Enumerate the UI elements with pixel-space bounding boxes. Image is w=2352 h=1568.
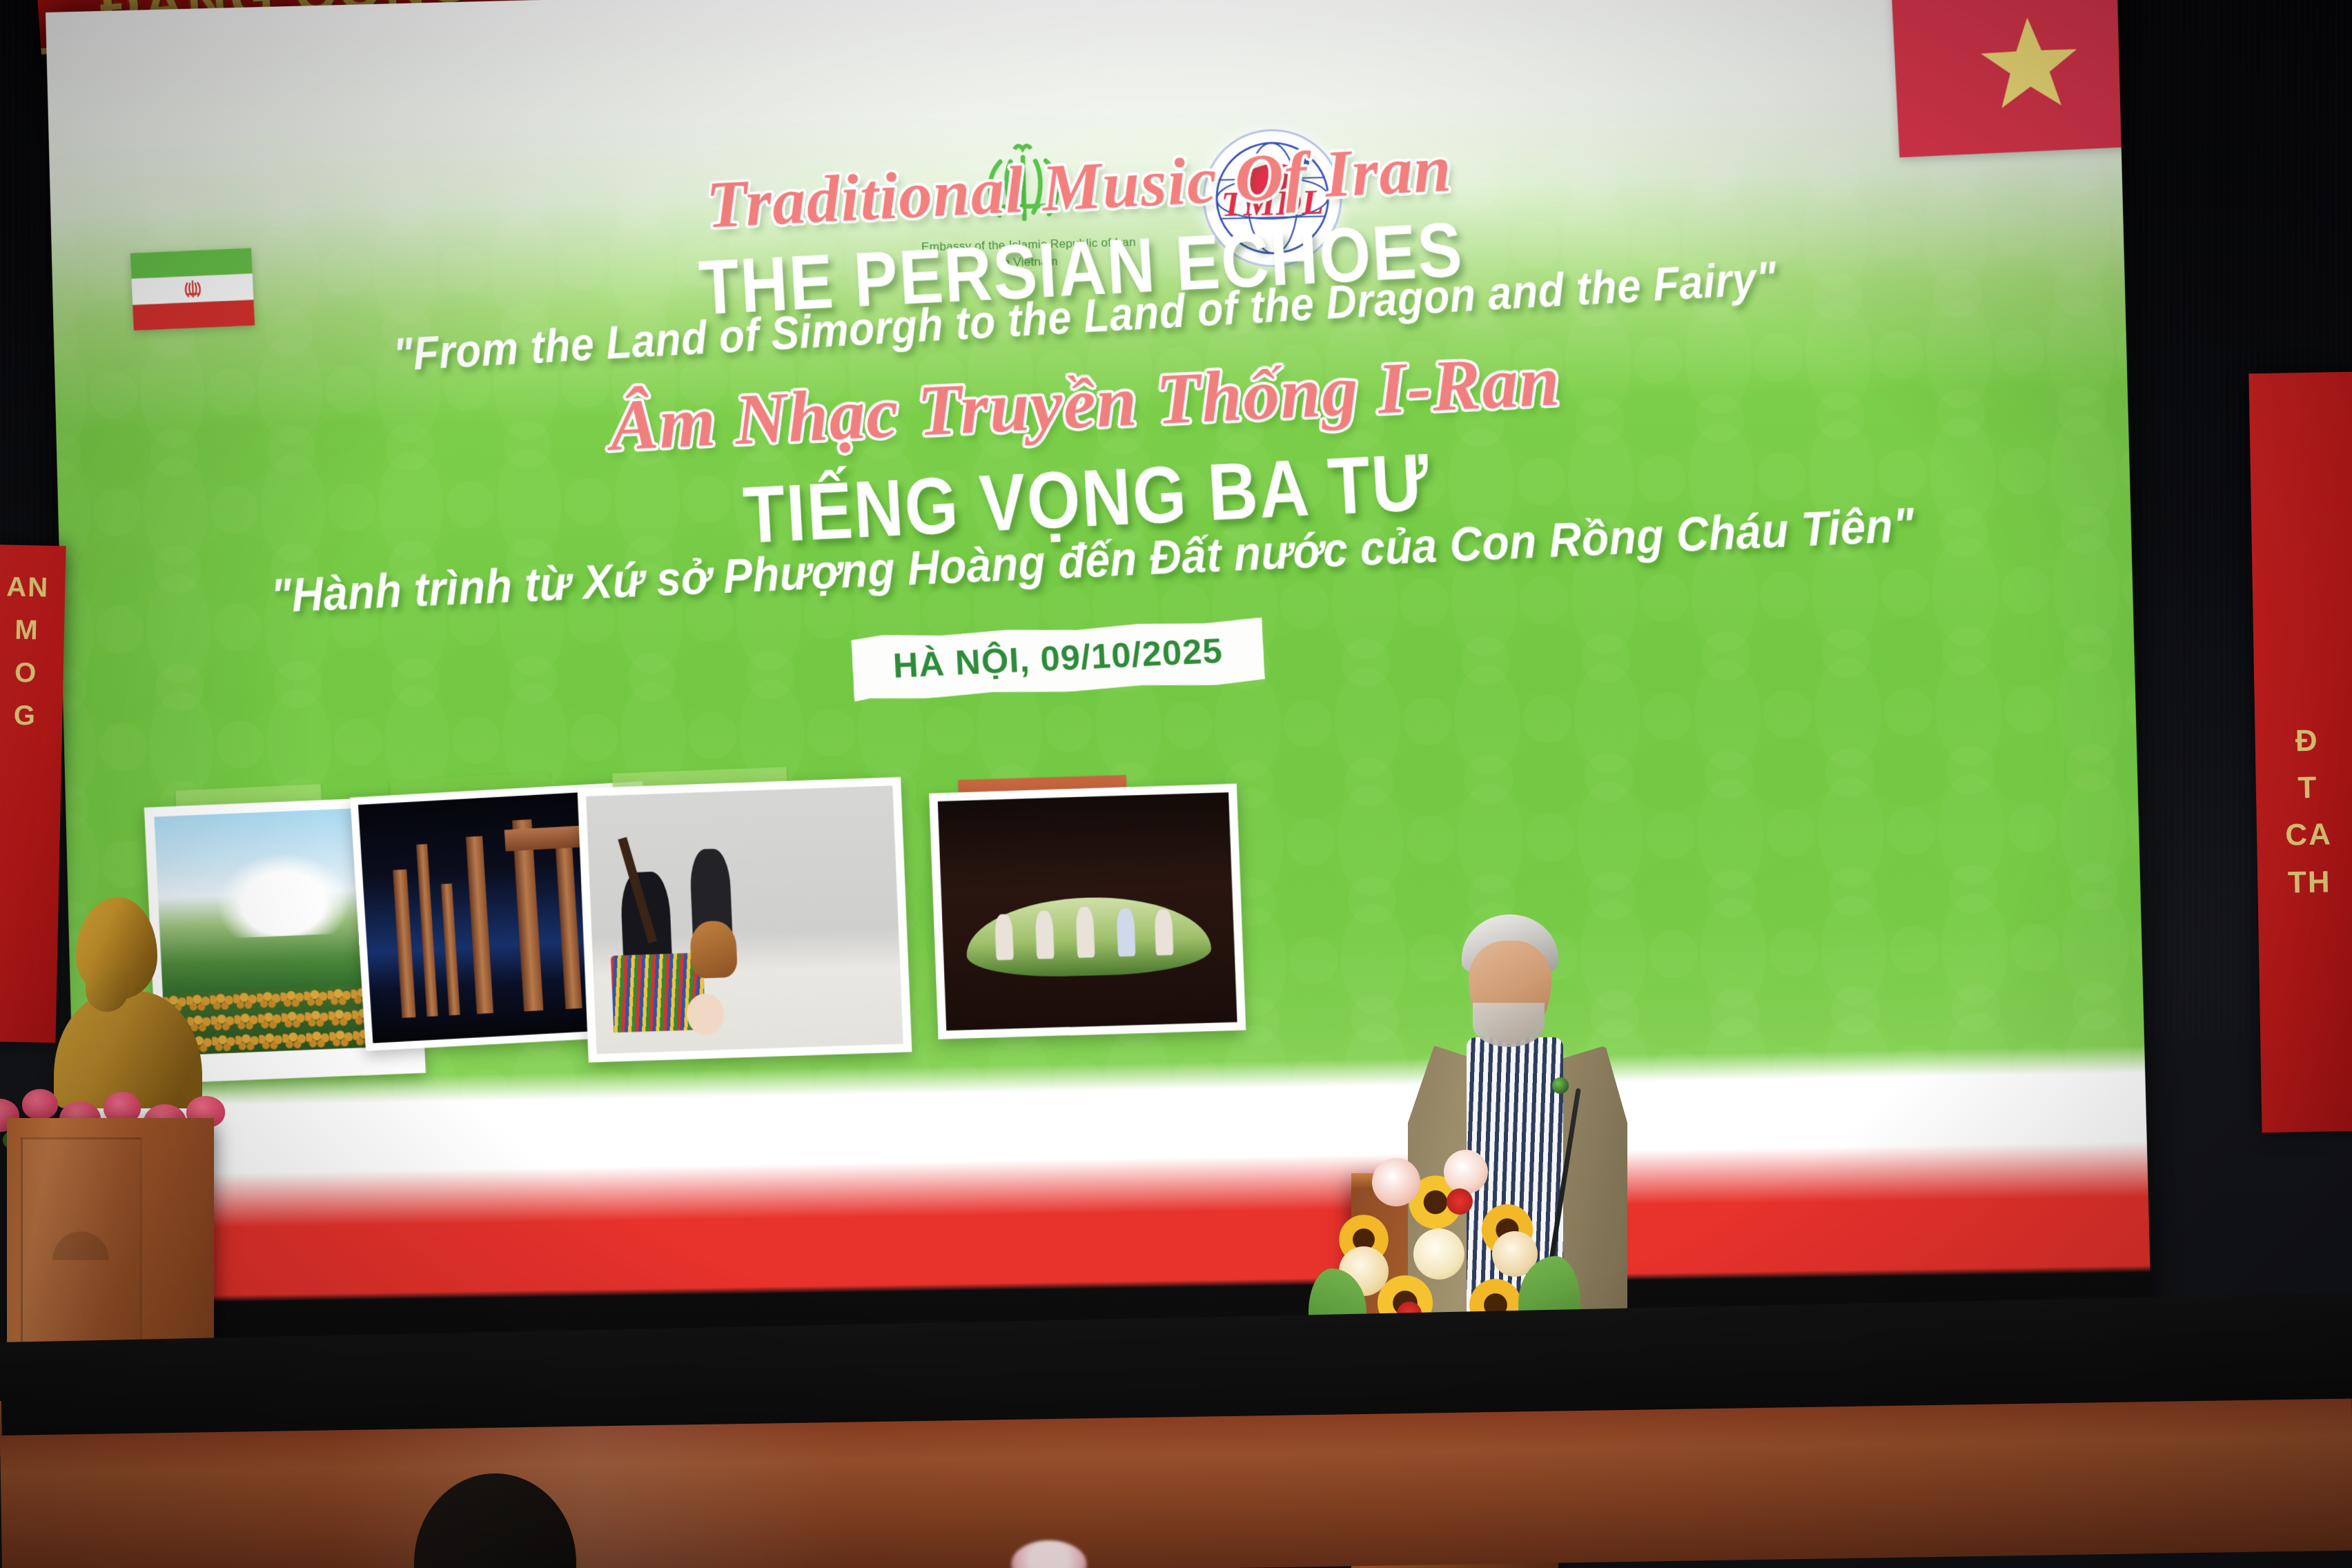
- rose: [1372, 1158, 1420, 1206]
- ruins-column: [393, 869, 415, 1017]
- pedestal-lotus-carving: [43, 1222, 119, 1260]
- photo-stage-image: [938, 792, 1237, 1030]
- ruins-column: [441, 883, 460, 1015]
- banner-left: AN M O G: [0, 545, 66, 1043]
- performer: [994, 914, 1014, 960]
- banner-left-text: AN M O G: [0, 565, 66, 738]
- mountain-peak: [216, 852, 349, 938]
- ruins-column: [466, 836, 493, 1014]
- banner-right-text: Đ T CA TH: [2255, 717, 2352, 907]
- photo-iranian-musicians: [578, 777, 912, 1063]
- ruins-column: [555, 841, 582, 1008]
- performer: [1154, 909, 1173, 955]
- event-photo-scene: ĐẢNG CỘNG SẢN: [0, 0, 2352, 1568]
- bust-beard: [86, 969, 128, 1012]
- led-screen: Embassy of the Islamic Republic of Iran …: [46, 0, 2152, 1365]
- speaker-beard: [1473, 1003, 1545, 1047]
- rose: [1413, 1228, 1464, 1280]
- ruins-column: [416, 844, 438, 1017]
- photo-musicians-image: [586, 785, 903, 1054]
- banner-right: Đ T CA TH: [2248, 372, 2352, 1133]
- small-red-flower: [1447, 1188, 1473, 1215]
- date-badge: HÀ NỘI, 09/10/2025: [851, 618, 1265, 702]
- floor-sheen: [329, 1422, 849, 1568]
- performer: [1075, 907, 1095, 958]
- lotus-flower: [22, 1089, 58, 1119]
- photo-stage-performance: [929, 784, 1246, 1039]
- performer: [1035, 910, 1055, 959]
- drum-instrument: [689, 920, 738, 978]
- slide-text-block: Traditional Music Of Iran THE PERSIAN EC…: [46, 0, 2152, 1365]
- rose: [1444, 1150, 1488, 1194]
- performer: [1116, 908, 1135, 957]
